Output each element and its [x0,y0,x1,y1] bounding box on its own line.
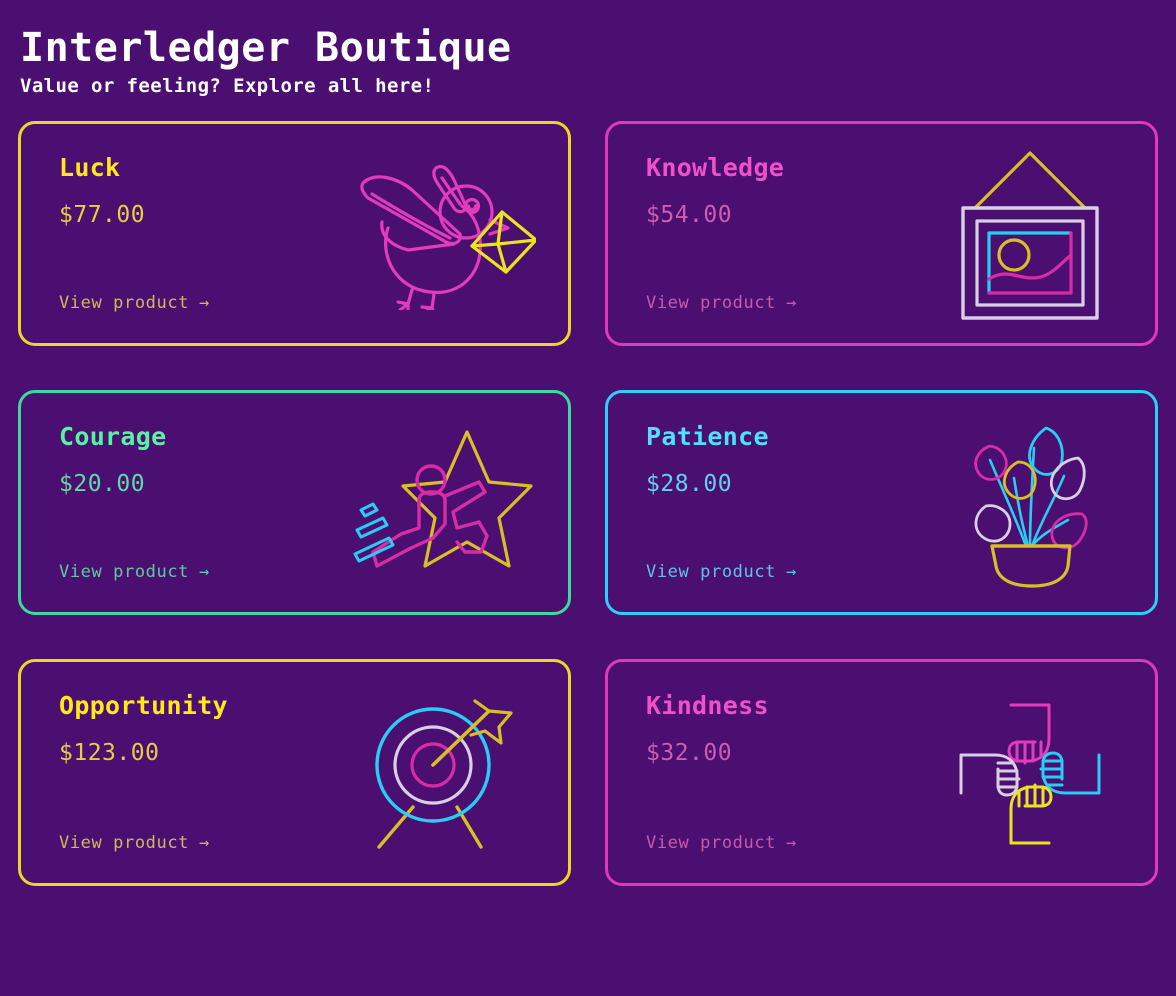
page-tagline: Value or feeling? Explore all here! [20,75,1158,99]
view-product-link[interactable]: View product→ [646,562,935,582]
view-product-link[interactable]: View product→ [59,562,348,582]
product-card-body: Luck $77.00 View product→ [59,152,348,319]
product-card-patience[interactable]: Patience $28.00 View product→ [605,390,1158,615]
view-product-label: View product [646,293,776,313]
arrow-right-icon: → [199,562,210,582]
boutique-page: Interledger Boutique Value or feeling? E… [0,0,1176,996]
page-title: Interledger Boutique [20,26,1158,71]
four-hands-icon [955,699,1105,849]
product-name: Patience [646,423,935,451]
arrow-right-icon: → [786,293,797,313]
product-name: Courage [59,423,348,451]
arrow-right-icon: → [786,833,797,853]
product-card-opportunity[interactable]: Opportunity $123.00 View product→ [18,659,571,886]
view-product-link[interactable]: View product→ [646,293,935,313]
arrow-right-icon: → [199,293,210,313]
view-product-link[interactable]: View product→ [59,293,348,313]
view-product-label: View product [59,562,189,582]
product-card-body: Opportunity $123.00 View product→ [59,690,348,859]
view-product-label: View product [59,833,189,853]
product-name: Kindness [646,692,935,720]
product-card-knowledge[interactable]: Knowledge $54.00 View product→ [605,121,1158,346]
product-grid: Luck $77.00 View product→ [18,121,1158,886]
product-illustration [935,420,1125,588]
product-illustration [935,145,1125,325]
product-price: $32.00 [646,741,935,766]
product-card-luck[interactable]: Luck $77.00 View product→ [18,121,571,346]
product-card-body: Knowledge $54.00 View product→ [646,152,935,319]
view-product-label: View product [646,562,776,582]
product-name: Luck [59,154,348,182]
arrow-right-icon: → [199,833,210,853]
product-card-courage[interactable]: Courage $20.00 View product→ [18,390,571,615]
target-with-arrow-icon [363,695,523,853]
product-name: Opportunity [59,692,348,720]
product-illustration [348,160,538,310]
view-product-link[interactable]: View product→ [59,833,348,853]
view-product-label: View product [646,833,776,853]
product-illustration [348,424,538,584]
product-illustration [348,695,538,853]
product-name: Knowledge [646,154,935,182]
product-price: $54.00 [646,203,935,228]
product-card-body: Patience $28.00 View product→ [646,421,935,588]
product-price: $77.00 [59,203,348,228]
product-price: $20.00 [59,472,348,497]
running-person-star-icon [353,424,533,584]
arrow-right-icon: → [786,562,797,582]
view-product-label: View product [59,293,189,313]
product-card-body: Kindness $32.00 View product→ [646,690,935,859]
potted-plant-icon [960,420,1100,588]
product-price: $28.00 [646,472,935,497]
product-card-kindness[interactable]: Kindness $32.00 View product→ [605,659,1158,886]
product-illustration [935,699,1125,849]
bird-with-envelope-icon [350,160,536,310]
product-card-body: Courage $20.00 View product→ [59,421,348,588]
page-header: Interledger Boutique Value or feeling? E… [18,26,1158,99]
framed-picture-icon [953,145,1108,325]
view-product-link[interactable]: View product→ [646,833,935,853]
product-price: $123.00 [59,741,348,766]
